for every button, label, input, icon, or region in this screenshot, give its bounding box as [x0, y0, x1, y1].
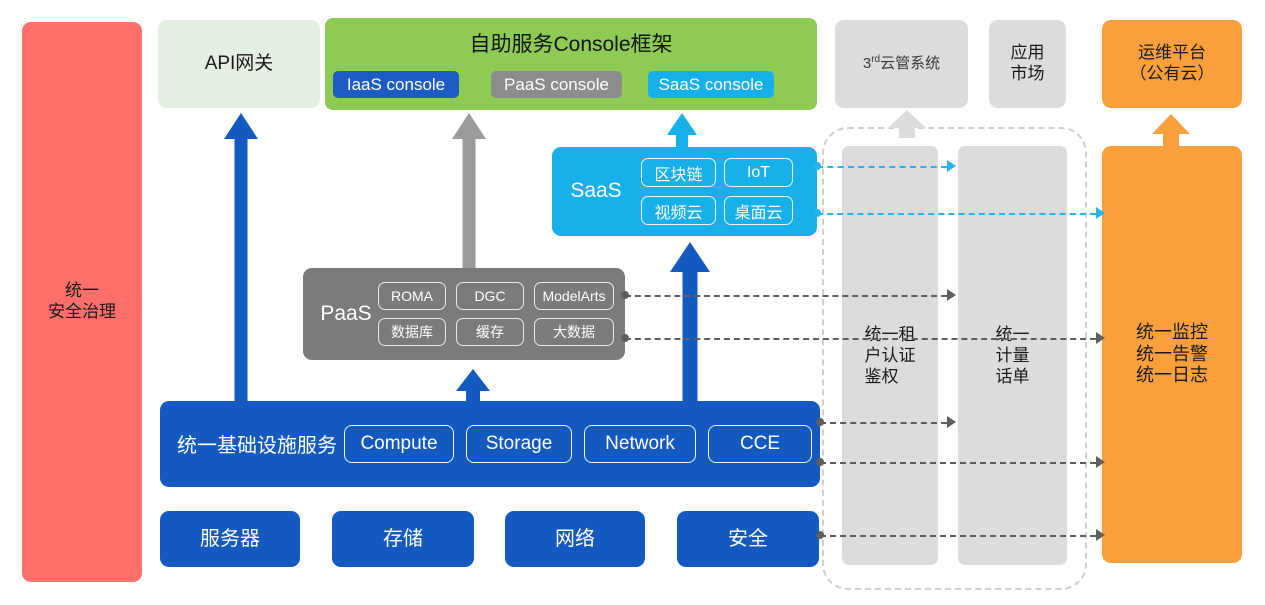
ops-platform-header-line1: 运维平台 [1130, 43, 1215, 64]
paas-console-button[interactable]: PaaS console [491, 71, 622, 98]
hardware-item-storage[interactable]: 存储 [332, 511, 474, 567]
saas-item-desktop-cloud[interactable]: 桌面云 [724, 196, 793, 225]
saas-console-button[interactable]: SaaS console [648, 71, 774, 98]
app-market-line2: 市场 [1011, 64, 1045, 85]
paas-item-bigdata[interactable]: 大数据 [534, 318, 614, 346]
metering-line2: 计量 [996, 345, 1030, 366]
hardware-item-server[interactable]: 服务器 [160, 511, 300, 567]
arrow-shared-to-third-cloud [888, 110, 926, 138]
saas-item-blockchain[interactable]: 区块链 [641, 158, 716, 187]
app-market-line1: 应用 [1011, 43, 1045, 64]
ops-body-line2: 统一告警 [1136, 344, 1208, 366]
third-party-cloud-mgmt-box[interactable]: 3rd云管系统 [835, 20, 968, 108]
tenant-auth-line3: 鉴权 [865, 366, 916, 387]
conn-line-infra-to-ops [820, 462, 1096, 464]
infrastructure-layer-label: 统一基础设施服务 [172, 424, 342, 462]
conn-arrow-saas-to-tenant-auth [947, 160, 956, 172]
app-market-box[interactable]: 应用 市场 [989, 20, 1066, 108]
conn-arrow-hardware-to-ops [1096, 529, 1105, 541]
infra-item-compute[interactable]: Compute [344, 425, 454, 463]
paas-item-modelarts[interactable]: ModelArts [534, 282, 614, 310]
hardware-item-network[interactable]: 网络 [505, 511, 645, 567]
conn-arrow-infra-to-tenant-auth [947, 416, 956, 428]
infra-item-cce[interactable]: CCE [708, 425, 812, 463]
conn-line-paas-to-tenant-auth [625, 295, 947, 297]
ops-platform-body-box[interactable]: 统一监控 统一告警 统一日志 [1102, 146, 1242, 563]
paas-item-cache[interactable]: 缓存 [456, 318, 524, 346]
metering-line3: 话单 [996, 366, 1030, 387]
ops-body-line1: 统一监控 [1136, 322, 1208, 344]
ops-body-line3: 统一日志 [1136, 365, 1208, 387]
third-party-cloud-mgmt-label: 3rd云管系统 [863, 54, 940, 73]
hardware-item-security[interactable]: 安全 [677, 511, 819, 567]
api-gateway-box[interactable]: API网关 [158, 20, 320, 108]
api-gateway-label: API网关 [205, 52, 274, 75]
infra-item-network[interactable]: Network [584, 425, 696, 463]
tenant-auth-line2: 户认证 [865, 345, 916, 366]
paas-item-database[interactable]: 数据库 [378, 318, 446, 346]
ops-platform-header-line2: （公有云） [1130, 64, 1215, 85]
security-governance-panel[interactable]: 统一 安全治理 [22, 22, 142, 582]
iaas-console-button[interactable]: IaaS console [333, 71, 459, 98]
arrow-infra-to-saas [670, 242, 710, 402]
saas-layer-label: SaaS [560, 176, 632, 206]
tenant-auth-line1: 统一租 [865, 324, 916, 345]
conn-arrow-infra-to-ops [1096, 456, 1105, 468]
paas-item-roma[interactable]: ROMA [378, 282, 446, 310]
security-governance-line2: 安全治理 [48, 302, 116, 323]
console-framework-title: 自助服务Console框架 [325, 26, 817, 60]
security-governance-line1: 统一 [48, 281, 116, 302]
conn-arrow-saas-to-ops [1096, 207, 1105, 219]
architecture-diagram: 统一 安全治理 API网关 自助服务Console框架 IaaS console… [0, 0, 1265, 605]
conn-line-infra-to-tenant-auth [820, 422, 947, 424]
infra-item-storage[interactable]: Storage [466, 425, 572, 463]
metering-billing-column[interactable]: 统一 计量 话单 [958, 146, 1067, 565]
conn-arrow-paas-to-tenant-auth [947, 289, 956, 301]
saas-item-iot[interactable]: IoT [724, 158, 793, 187]
metering-line1: 统一 [996, 324, 1030, 345]
conn-line-paas-to-ops [625, 338, 1096, 340]
saas-item-video-cloud[interactable]: 视频云 [641, 196, 716, 225]
paas-layer-label: PaaS [311, 299, 381, 329]
arrow-infra-to-paas [456, 369, 490, 402]
arrow-ops-body-to-header [1152, 114, 1190, 147]
arrow-infra-to-api-gateway [224, 113, 258, 401]
conn-arrow-paas-to-ops [1096, 332, 1105, 344]
arrow-saas-to-console [667, 113, 697, 147]
conn-line-saas-to-tenant-auth [817, 166, 947, 168]
conn-line-saas-to-ops [817, 213, 1096, 215]
conn-line-hardware-to-ops [820, 535, 1096, 537]
tenant-auth-column[interactable]: 统一租 户认证 鉴权 [842, 146, 938, 565]
paas-item-dgc[interactable]: DGC [456, 282, 524, 310]
arrow-paas-to-console [452, 113, 486, 268]
ops-platform-header-box[interactable]: 运维平台 （公有云） [1102, 20, 1242, 108]
